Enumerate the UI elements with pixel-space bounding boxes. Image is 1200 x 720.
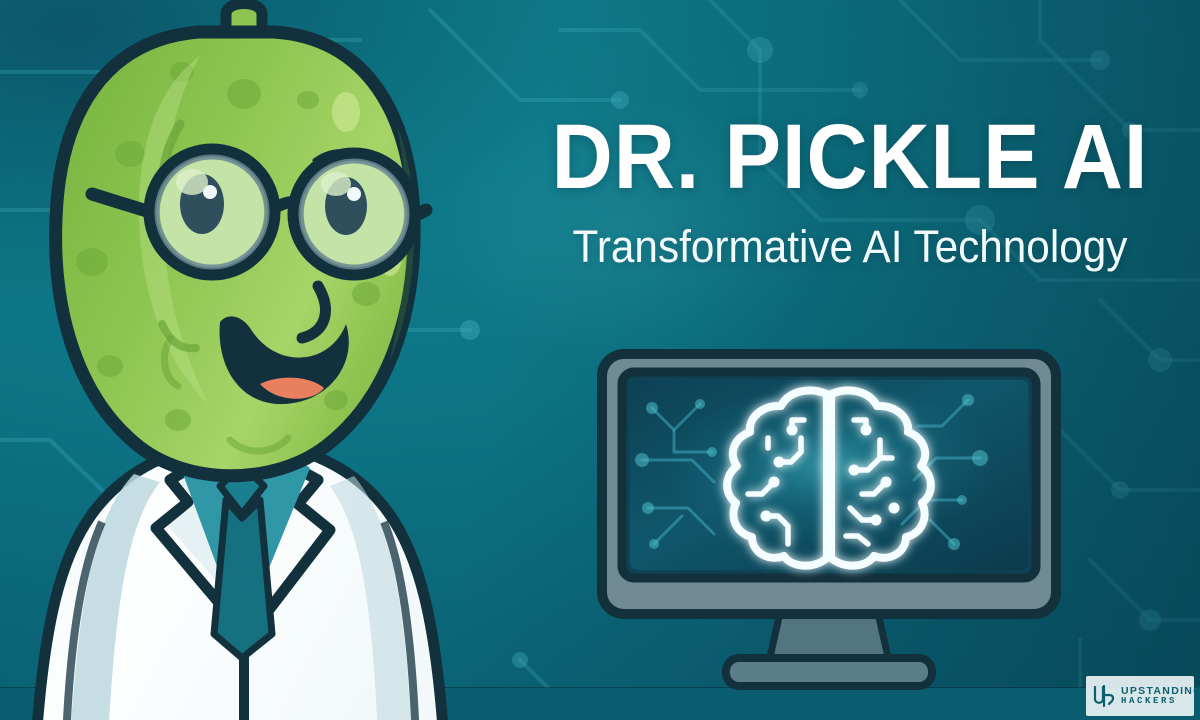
title-block: DR. PICKLE AI Transformative AI Technolo…	[516, 112, 1184, 269]
watermark-line-2: HACKERS	[1121, 697, 1200, 706]
page-title: DR. PICKLE AI	[543, 112, 1158, 202]
poster-canvas: DR. PICKLE AI Transformative AI Technolo…	[0, 0, 1200, 720]
page-subtitle: Transformative AI Technology	[536, 224, 1164, 269]
watermark-upstanding-hackers: UPSTANDING HACKERS	[1086, 676, 1194, 716]
pickle-head	[56, 4, 444, 476]
watermark-text: UPSTANDING HACKERS	[1121, 686, 1200, 706]
uh-monogram-icon	[1091, 683, 1117, 709]
desktop-monitor[interactable]	[596, 348, 1062, 696]
dr-pickle-character	[0, 0, 534, 720]
